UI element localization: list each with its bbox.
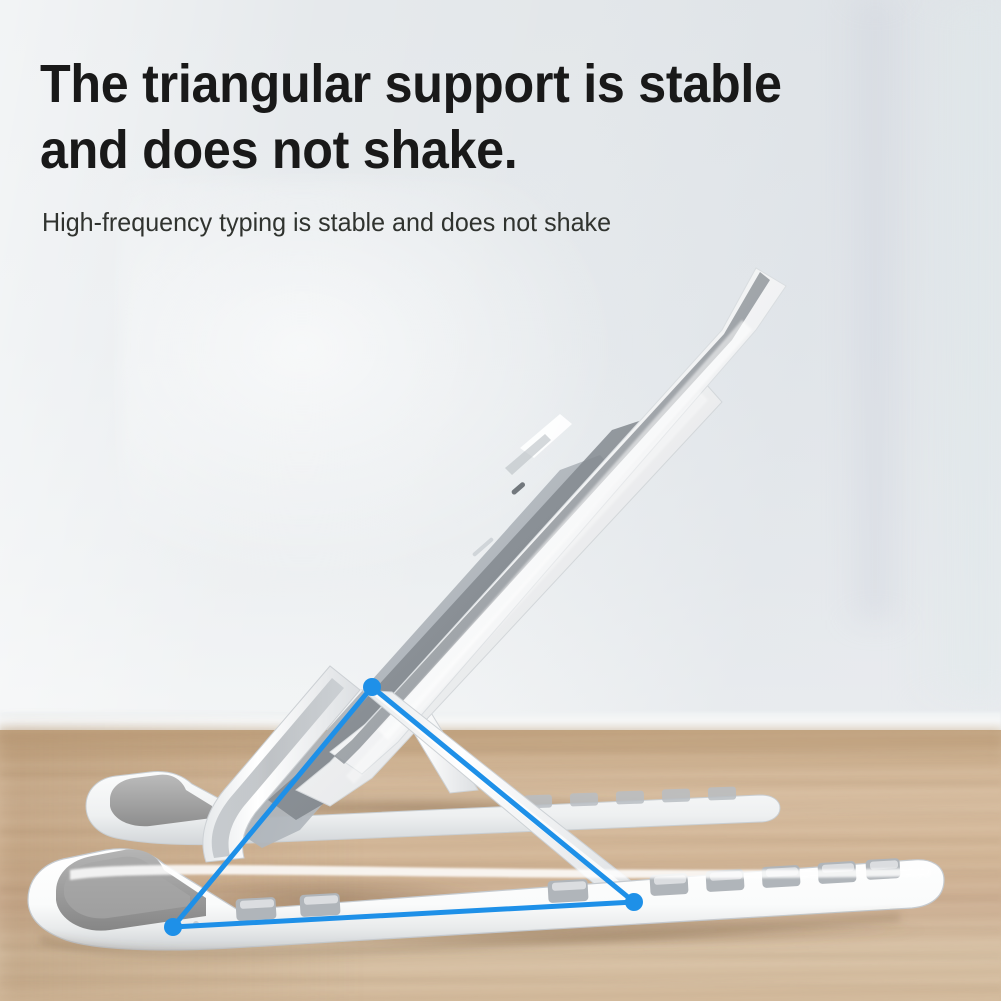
laptop-device [232,268,786,848]
marketing-copy-block: The triangular support is stable and doe… [40,52,900,238]
page-title: The triangular support is stable and doe… [40,52,840,184]
page-subtitle: High-frequency typing is stable and does… [42,206,870,239]
triangle-vertex-bottom-left [164,918,182,936]
triangle-vertex-bottom-right [625,893,643,911]
product-feature-poster: The triangular support is stable and doe… [0,0,1001,1001]
triangle-vertex-apex [363,678,381,696]
